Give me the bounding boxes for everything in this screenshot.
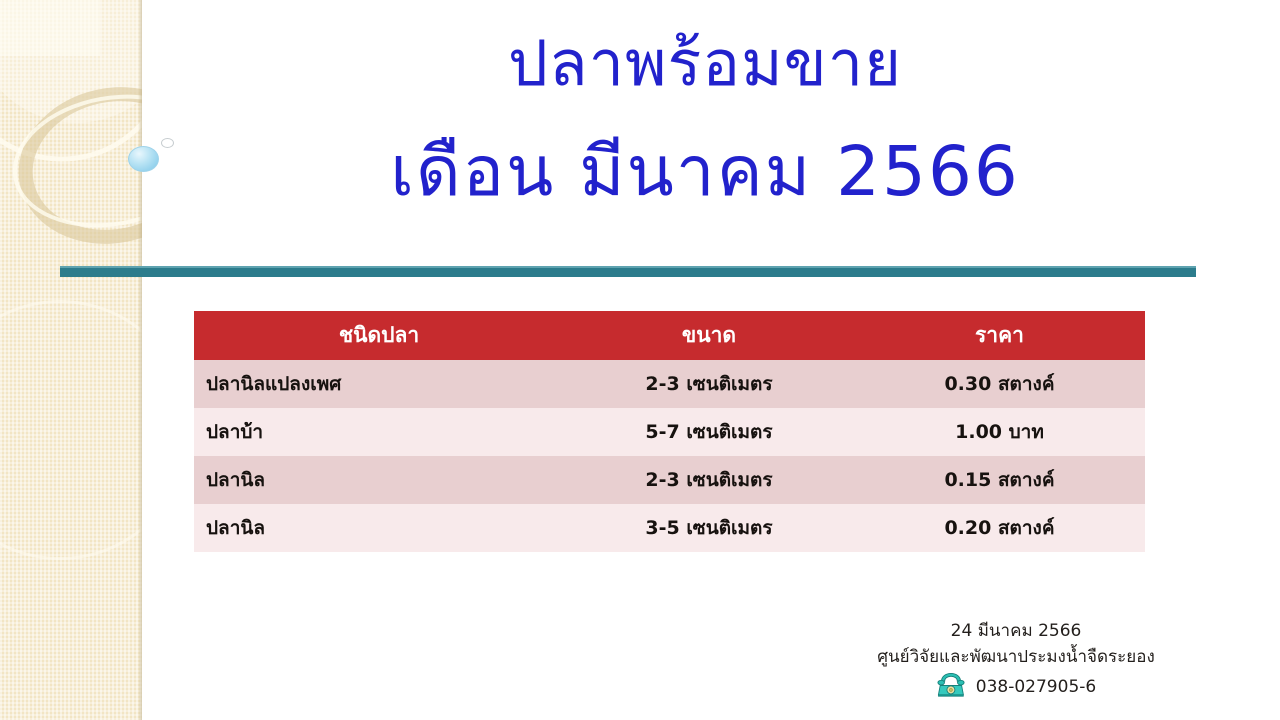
table-row: ปลาบ้า 5-7 เซนติเมตร 1.00 บาท bbox=[194, 408, 1145, 456]
cell-size: 3-5 เซนติเมตร bbox=[564, 504, 854, 552]
column-header-price: ราคา bbox=[854, 311, 1145, 360]
cell-price: 0.30 สตางค์ bbox=[854, 360, 1145, 408]
title-line-2: เดือน มีนาคม 2566 bbox=[160, 126, 1250, 218]
table-row: ปลานิล 3-5 เซนติเมตร 0.20 สตางค์ bbox=[194, 504, 1145, 552]
cell-size: 5-7 เซนติเมตร bbox=[564, 408, 854, 456]
bubble-outline-icon bbox=[161, 138, 174, 148]
table-row: ปลานิล 2-3 เซนติเมตร 0.15 สตางค์ bbox=[194, 456, 1145, 504]
decorative-sidebar bbox=[0, 0, 142, 720]
page-title: ปลาพร้อมขาย เดือน มีนาคม 2566 bbox=[160, 22, 1250, 218]
price-table-container: ชนิดปลา ขนาด ราคา ปลานิลแปลงเพศ 2-3 เซนต… bbox=[194, 311, 1145, 552]
cell-size: 2-3 เซนติเมตร bbox=[564, 456, 854, 504]
slide-canvas: ปลาพร้อมขาย เดือน มีนาคม 2566 ชนิดปลา ขน… bbox=[0, 0, 1280, 720]
table-header-row: ชนิดปลา ขนาด ราคา bbox=[194, 311, 1145, 360]
title-divider bbox=[60, 266, 1196, 277]
sidebar-arc-bottom bbox=[0, 300, 142, 560]
table-header: ชนิดปลา ขนาด ราคา bbox=[194, 311, 1145, 360]
cell-size: 2-3 เซนติเมตร bbox=[564, 360, 854, 408]
telephone-icon bbox=[936, 672, 966, 702]
price-table: ชนิดปลา ขนาด ราคา ปลานิลแปลงเพศ 2-3 เซนต… bbox=[194, 311, 1145, 552]
footer-organization: ศูนย์วิจัยและพัฒนาประมงน้ำจืดระยอง bbox=[806, 644, 1226, 670]
cell-price: 0.20 สตางค์ bbox=[854, 504, 1145, 552]
footer-phone-number: 038-027905-6 bbox=[976, 675, 1096, 699]
column-header-fish-type: ชนิดปลา bbox=[194, 311, 564, 360]
footer-phone-row: 038-027905-6 bbox=[806, 672, 1226, 702]
cell-fish-type: ปลานิล bbox=[194, 504, 564, 552]
footer-date: 24 มีนาคม 2566 bbox=[806, 619, 1226, 644]
cell-fish-type: ปลานิล bbox=[194, 456, 564, 504]
table-row: ปลานิลแปลงเพศ 2-3 เซนติเมตร 0.30 สตางค์ bbox=[194, 360, 1145, 408]
cell-fish-type: ปลาบ้า bbox=[194, 408, 564, 456]
table-body: ปลานิลแปลงเพศ 2-3 เซนติเมตร 0.30 สตางค์ … bbox=[194, 360, 1145, 552]
cell-price: 1.00 บาท bbox=[854, 408, 1145, 456]
cell-price: 0.15 สตางค์ bbox=[854, 456, 1145, 504]
slide-footer: 24 มีนาคม 2566 ศูนย์วิจัยและพัฒนาประมงน้… bbox=[806, 619, 1226, 702]
column-header-size: ขนาด bbox=[564, 311, 854, 360]
title-line-1: ปลาพร้อมขาย bbox=[160, 22, 1250, 106]
bubble-icon bbox=[128, 146, 159, 172]
sidebar-edge-shadow bbox=[138, 0, 142, 720]
cell-fish-type: ปลานิลแปลงเพศ bbox=[194, 360, 564, 408]
